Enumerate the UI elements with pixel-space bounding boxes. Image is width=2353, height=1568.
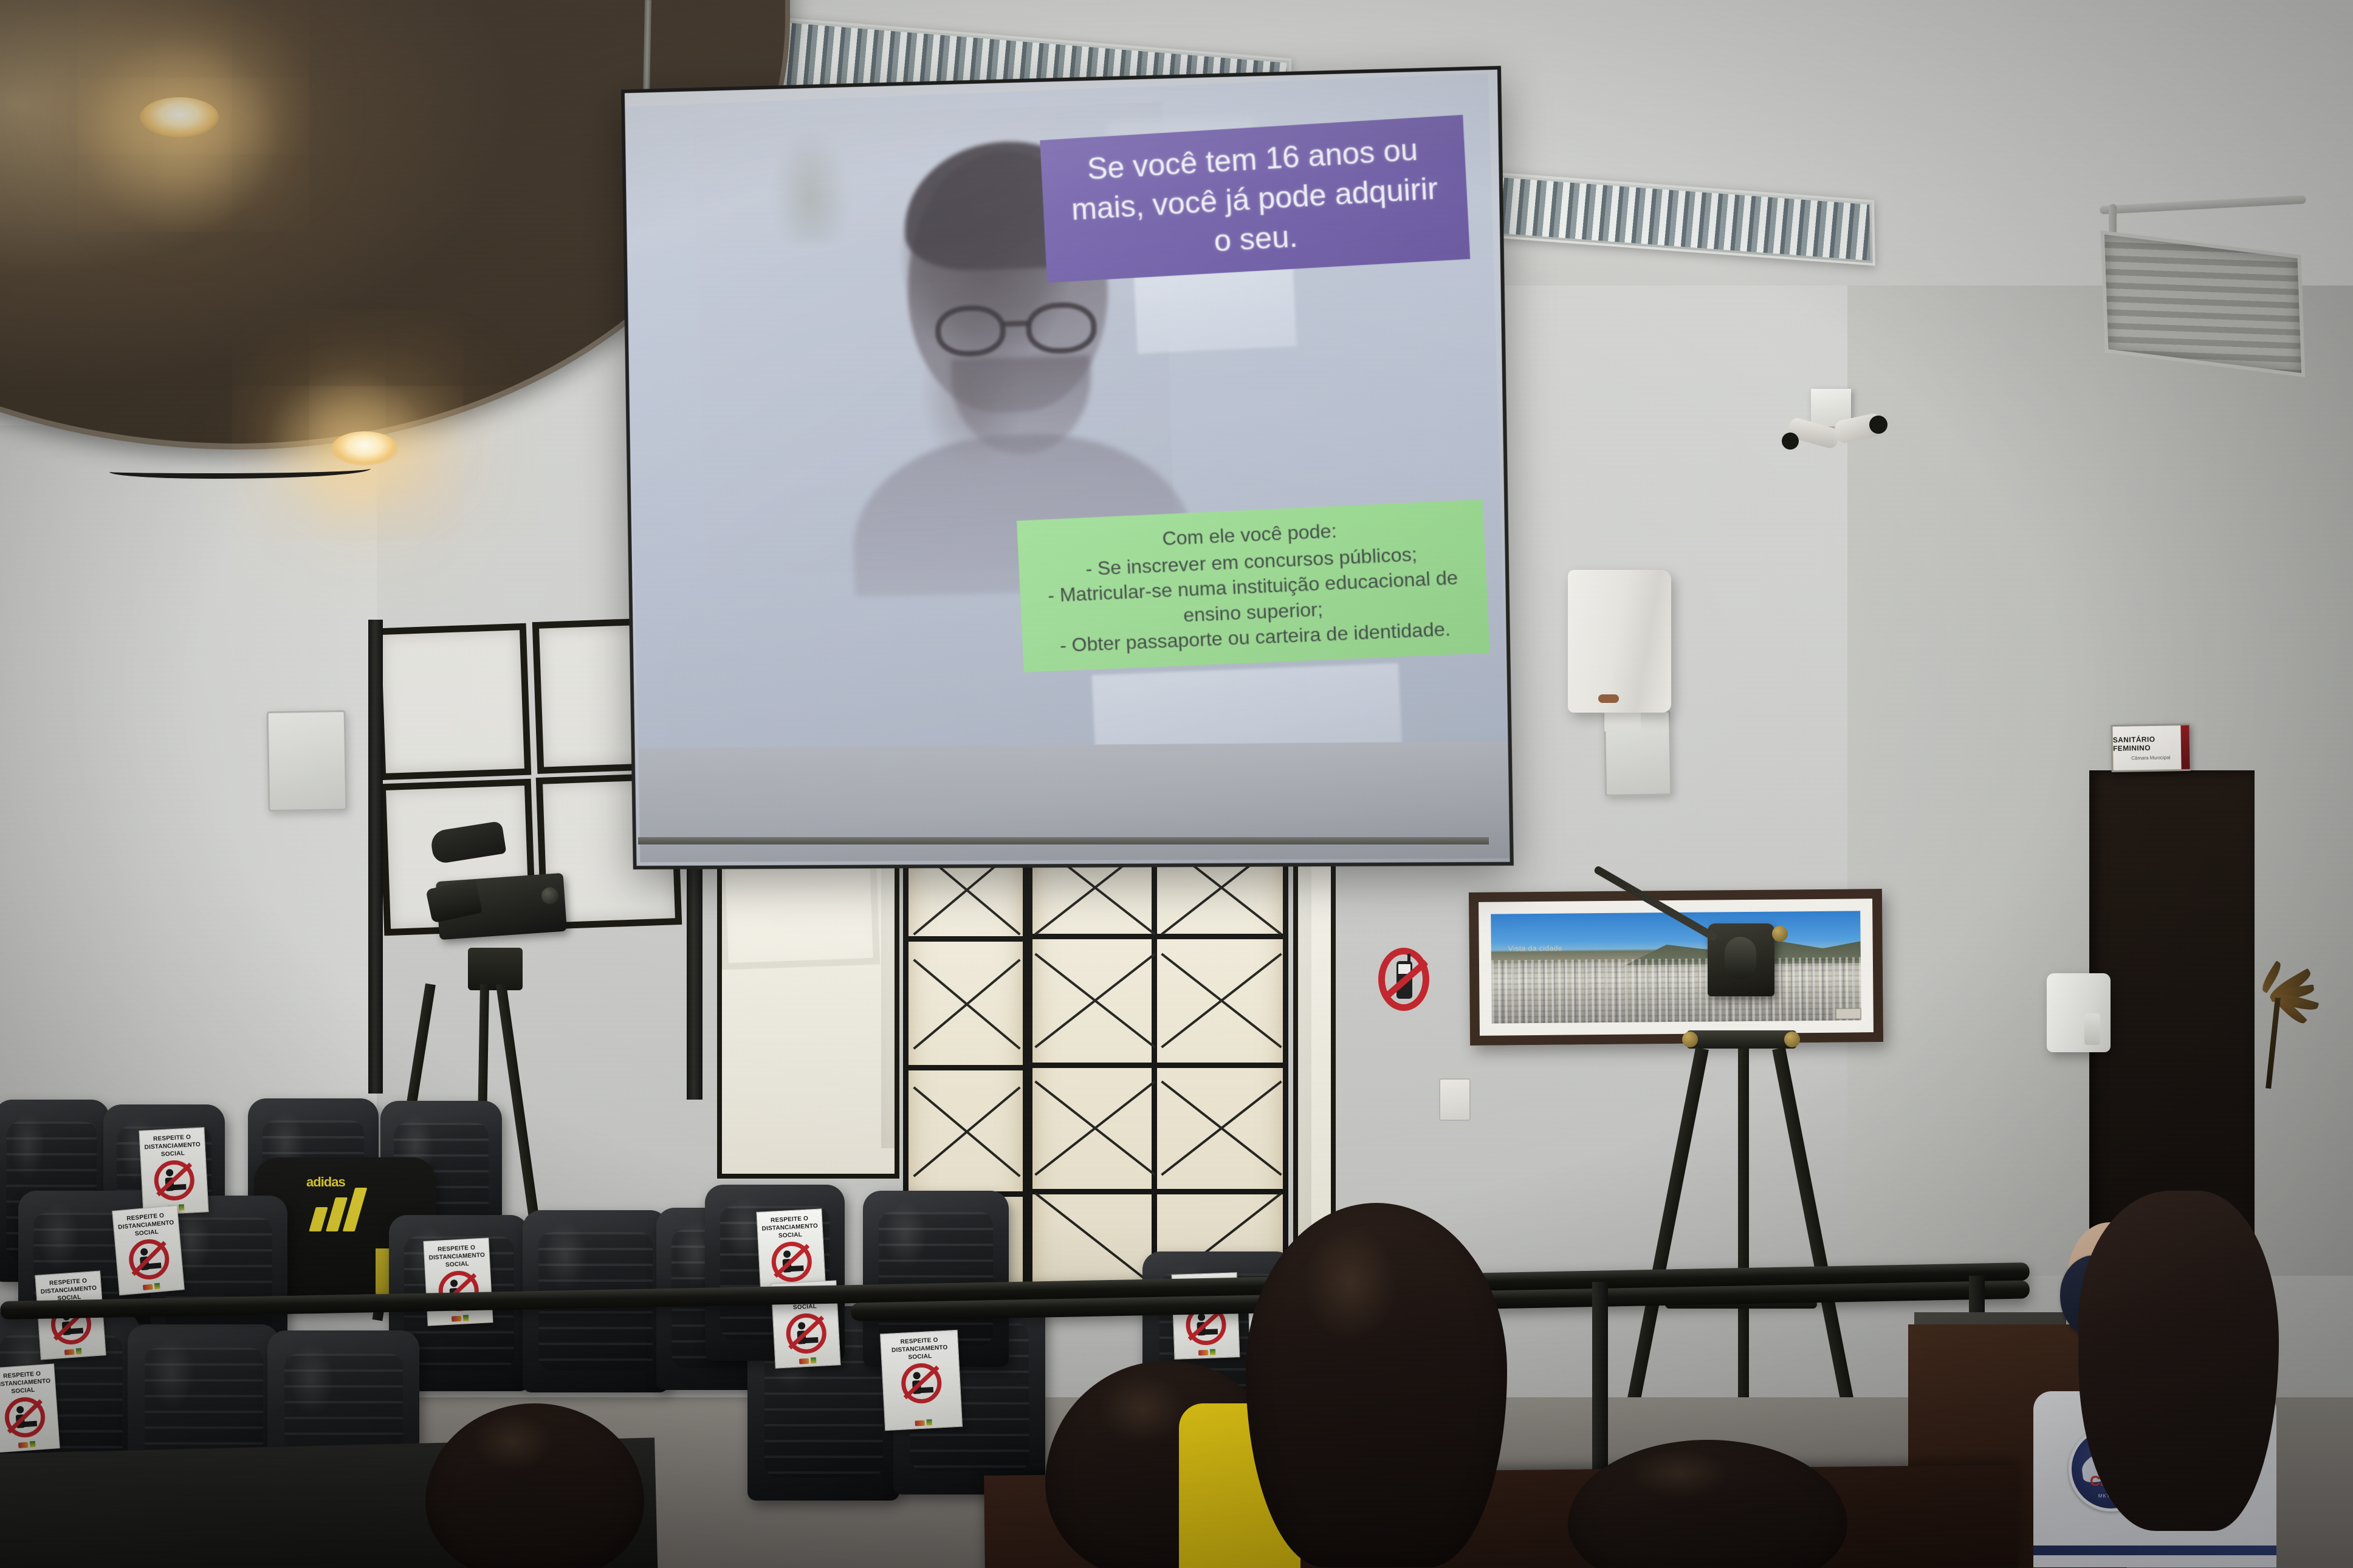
sign-line-3: SOCIAL [778, 1231, 803, 1240]
attendee-hair [1246, 1203, 1507, 1567]
sign-line-2: DISTANCIAMENTO [428, 1251, 485, 1262]
glass-panel [717, 863, 899, 1179]
distancing-sign: RESPEITE O DISTANCIAMENTO SOCIAL [423, 1238, 493, 1326]
sign-line-2: DISTANCIAMENTO [761, 1222, 818, 1233]
no-sitting-icon [771, 1241, 812, 1283]
restroom-door-sign: SANITÁRIO FEMININO Câmara Municipal [2111, 724, 2190, 772]
wall-speaker [267, 710, 348, 812]
paper-towel-sheet [1604, 710, 1641, 731]
empty-tripod [1629, 923, 1884, 1422]
camera-knob[interactable] [541, 886, 559, 905]
no-sitting-icon [901, 1363, 943, 1405]
slide-purple-textbox: Se você tem 16 anos ou mais, você já pod… [1040, 115, 1470, 282]
towel-dispenser[interactable] [1568, 570, 1671, 713]
ceiling-lamp-icon [331, 431, 398, 465]
screen-support-bar [638, 837, 1489, 844]
no-cellphone-sign-icon [1375, 943, 1433, 1021]
masked-attendee: Cibure MKT USA [2011, 1191, 2279, 1567]
window-grille [1027, 831, 1288, 1299]
distancing-sign: RESPEITE O DISTANCIAMENTO SOCIAL [112, 1205, 185, 1296]
door-sign-line1: SANITÁRIO FEMININO [2113, 734, 2188, 753]
sign-line-2: DISTANCIAMENTO [891, 1344, 948, 1354]
projected-slide: Se você tem 16 anos ou mais, você já pod… [625, 73, 1507, 761]
photo-caption: Vista da cidade [1508, 944, 1562, 953]
tripod-head [468, 948, 523, 990]
camera-body [436, 873, 567, 940]
security-camera-icon [1790, 389, 1869, 462]
camera-lens-icon [425, 879, 483, 923]
sign-line-3: SOCIAL [161, 1150, 185, 1159]
left-wall [0, 425, 377, 1215]
sign-line-3: SOCIAL [908, 1353, 932, 1361]
sanitizer-dispenser[interactable] [2047, 973, 2111, 1052]
glasses-icon [935, 297, 1118, 361]
wall-outlet-plate[interactable] [1439, 1078, 1471, 1121]
sign-line-3: SOCIAL [445, 1261, 470, 1269]
no-sitting-icon [128, 1238, 171, 1282]
railing-post [1592, 1282, 1608, 1482]
ceiling-lamp-icon [140, 97, 219, 137]
no-sitting-icon [4, 1396, 46, 1439]
no-sitting-icon [785, 1313, 827, 1355]
sign-line-3: SOCIAL [11, 1386, 35, 1395]
no-sitting-icon [153, 1160, 195, 1202]
wall-bracket [374, 623, 532, 781]
distancing-sign: RESPEITE O DISTANCIAMENTO SOCIAL [139, 1127, 208, 1215]
door-sign-line2: Câmara Municipal [2131, 755, 2171, 761]
sign-line-3: SOCIAL [135, 1228, 159, 1238]
auditorium-scene: Vista da cidade SANITÁRIO FEMININO Câmar… [0, 0, 2353, 1568]
tripod-knob[interactable] [1772, 926, 1788, 942]
video-camera [425, 849, 577, 959]
tripod-plate [1687, 1030, 1796, 1049]
plant-icon [2248, 948, 2353, 1087]
tripod-fluid-head [1708, 923, 1774, 996]
sign-line-2: DISTANCIAMENTO [144, 1141, 201, 1151]
steel-column [368, 620, 383, 1094]
distancing-sign: RESPEITE O DISTANCIAMENTO SOCIAL [880, 1330, 963, 1431]
attendee-hair [2078, 1191, 2279, 1531]
adidas-logo-icon [309, 1186, 382, 1231]
slide-green-textbox: Com ele você pode: - Se inscrever em con… [1017, 499, 1490, 673]
projection-screen: Se você tem 16 anos ou mais, você já pod… [621, 66, 1514, 869]
hvac-vent-icon [2101, 230, 2306, 377]
distancing-sign: RESPEITE O DISTANCIAMENTO SOCIAL [0, 1363, 60, 1453]
